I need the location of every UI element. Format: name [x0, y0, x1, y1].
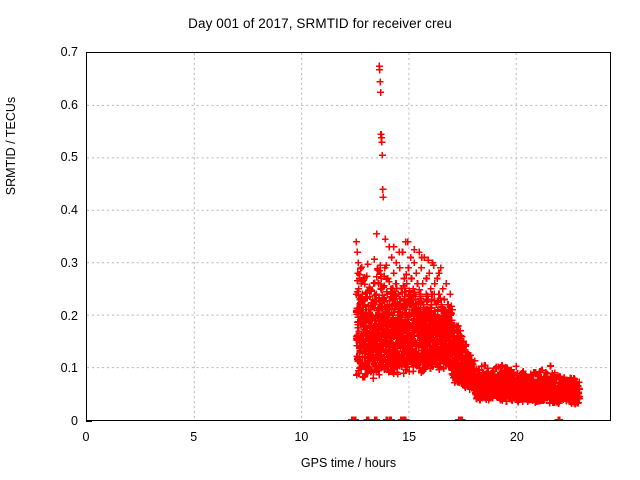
y-tick-label: 0.1	[8, 361, 78, 375]
y-tick-label: 0.2	[8, 309, 78, 323]
y-tick-label: 0	[8, 414, 78, 428]
chart-title: Day 001 of 2017, SRMTID for receiver cre…	[0, 16, 640, 31]
x-axis-label: GPS time / hours	[86, 456, 611, 470]
grid-lines	[87, 53, 610, 420]
y-tick-label: 0.7	[8, 45, 78, 59]
scatter-series-srmtid	[87, 53, 610, 420]
chart-page: Day 001 of 2017, SRMTID for receiver cre…	[0, 0, 640, 480]
x-tick-label: 20	[487, 430, 547, 444]
y-tick-label: 0.5	[8, 150, 78, 164]
x-tick-label: 0	[56, 430, 116, 444]
x-tick-label: 15	[379, 430, 439, 444]
x-tick-label: 10	[271, 430, 331, 444]
y-tick-label: 0.3	[8, 256, 78, 270]
y-tick-label: 0.4	[8, 203, 78, 217]
plot-area	[86, 52, 611, 421]
y-tick-label: 0.6	[8, 98, 78, 112]
x-tick-label: 5	[164, 430, 224, 444]
